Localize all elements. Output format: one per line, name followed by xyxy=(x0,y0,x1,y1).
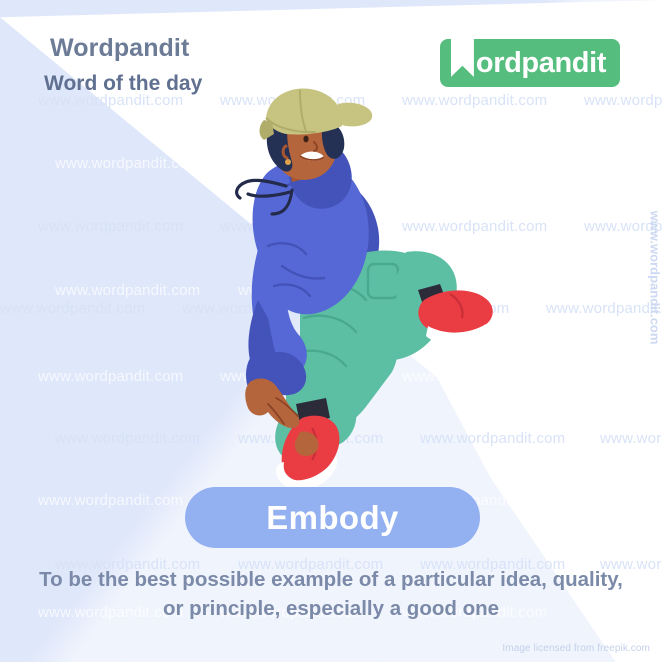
character-illustration xyxy=(0,0,662,662)
header-text-block: Wordpandit Word of the day xyxy=(44,36,202,94)
word-definition: To be the best possible example of a par… xyxy=(22,566,640,623)
word-of-the-day: Embody xyxy=(266,501,399,534)
word-of-the-day-card: www.wordpandit.comwww.wordpandit.comwww.… xyxy=(0,0,662,662)
image-credit: Image licensed from freepik.com xyxy=(502,643,650,654)
word-pill: Embody xyxy=(185,487,480,548)
logo-text: ordpandit xyxy=(476,49,606,78)
wordpandit-logo[interactable]: ordpandit xyxy=(440,39,620,87)
page-subtitle: Word of the day xyxy=(44,73,202,94)
bookmark-icon xyxy=(451,30,474,77)
definition-line-2: or principle, especially a good one xyxy=(22,595,640,624)
brand-title: Wordpandit xyxy=(50,36,202,61)
definition-line-1: To be the best possible example of a par… xyxy=(22,566,640,595)
